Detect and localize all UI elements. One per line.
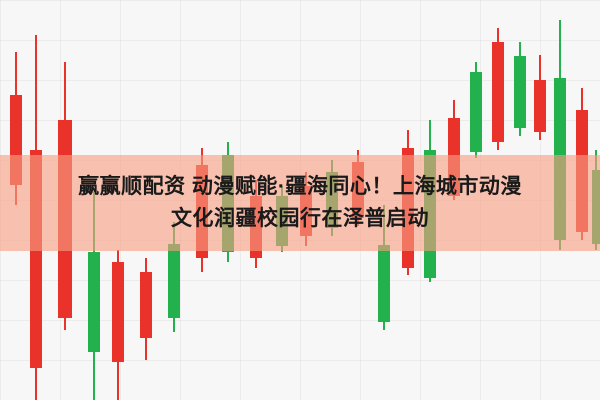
candlestick-body [492, 42, 504, 142]
candlestick-body [168, 244, 180, 318]
headline-line-1: 赢赢顺配资 动漫赋能·疆海同心！上海城市动漫 [78, 174, 522, 200]
headline-banner: 赢赢顺配资 动漫赋能·疆海同心！上海城市动漫 文化润疆校园行在泽普启动 [0, 155, 600, 251]
candlestick-body [534, 80, 546, 132]
screenshot-canvas: 赢赢顺配资 动漫赋能·疆海同心！上海城市动漫 文化润疆校园行在泽普启动 [0, 0, 600, 400]
candlestick-body [514, 56, 526, 128]
candlestick-body [140, 272, 152, 338]
candlestick-body [88, 252, 100, 352]
headline-line-2: 文化润疆校园行在泽普启动 [171, 206, 429, 232]
candlestick-body [112, 262, 124, 362]
candlestick-body [470, 72, 482, 152]
candlestick-body [378, 245, 390, 322]
